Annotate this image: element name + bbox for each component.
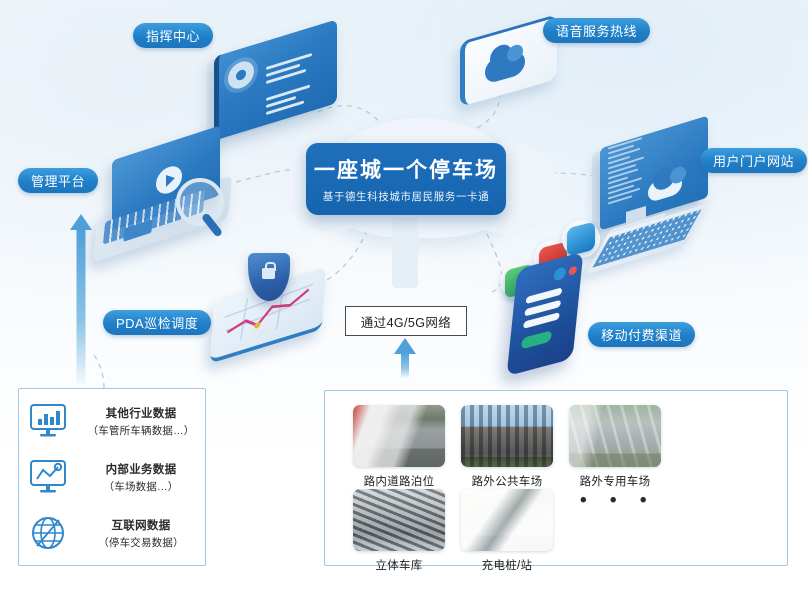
scene-card-caption: 立体车库 [353,557,445,573]
monitor-bar-chart-icon [19,403,77,439]
search-icon [176,178,224,226]
data-source-row[interactable]: 内部业务数据 （车场数据…） [19,451,205,503]
arrow-up-network [392,338,418,378]
multi-level-garage-photo [353,489,445,551]
scene-card-caption: 充电桩/站 [461,557,553,573]
data-sources-panel: 其他行业数据 （车管所车辆数据…） 内部业务数据 （车场数据…） [18,388,206,566]
label-command-center[interactable]: 指挥中心 [133,23,213,48]
scene-cards-panel: 路内道路泊位 路外公共车场 路外专用车场 立体车库 充电桩/站 [324,390,788,566]
label-user-portal[interactable]: 用户门户网站 [700,148,807,173]
globe-icon [19,514,77,552]
label-pda-dispatch[interactable]: PDA巡检调度 [103,310,211,335]
scene-card[interactable]: 路内道路泊位 [353,405,445,489]
scene-card[interactable]: 路外专用车场 [569,405,661,489]
data-source-title: 互联网数据 [112,517,171,533]
command-center-monitor [214,38,337,122]
label-management-platform[interactable]: 管理平台 [18,168,98,193]
public-offstreet-lot-photo [461,405,553,467]
data-source-text: 其他行业数据 （车管所车辆数据…） [77,405,205,438]
data-source-detail: （车管所车辆数据…） [88,423,195,438]
data-source-detail: （车场数据…） [104,479,179,494]
more-scenes-ellipsis: • • • [580,490,656,512]
scene-card[interactable]: 路外公共车场 [461,405,553,489]
on-street-parking-photo [353,405,445,467]
scene-card-caption: 路外公共车场 [461,473,553,489]
cloud-stem [392,218,418,288]
data-source-text: 内部业务数据 （车场数据…） [77,461,205,494]
network-box: 通过4G/5G网络 [345,306,467,336]
scene-card[interactable]: 充电桩/站 [461,489,553,573]
banner-title: 一座城一个停车场 [314,154,498,184]
label-voice-hotline[interactable]: 语音服务热线 [543,18,650,43]
monitor-code-lines [608,136,644,207]
banner-subtitle: 基于德生科技城市居民服务一卡通 [323,189,490,204]
monitor-line-chart-icon [19,459,77,495]
data-source-row[interactable]: 其他行业数据 （车管所车辆数据…） [19,395,205,447]
lock-icon [262,268,275,279]
data-source-title: 其他行业数据 [106,405,177,421]
center-banner: 一座城一个停车场 基于德生科技城市居民服务一卡通 [306,143,506,215]
scene-card[interactable]: 立体车库 [353,489,445,573]
data-source-detail: （停车交易数据） [98,535,184,550]
scene-card-caption: 路内道路泊位 [353,473,445,489]
data-source-text: 互联网数据 （停车交易数据） [77,517,205,550]
label-mobile-payment[interactable]: 移动付费渠道 [588,322,695,347]
arrow-up-left [66,214,96,384]
scene-card-caption: 路外专用车场 [569,473,661,489]
data-source-title: 内部业务数据 [106,461,177,477]
ev-charging-photo [461,489,553,551]
phone-pay-button [521,330,552,349]
data-source-row[interactable]: 互联网数据 （停车交易数据） [19,507,205,559]
dedicated-offstreet-lot-photo [569,405,661,467]
infographic-canvas: 一座城一个停车场 基于德生科技城市居民服务一卡通 指挥中心 语音服务热线 管理平… [0,0,808,590]
